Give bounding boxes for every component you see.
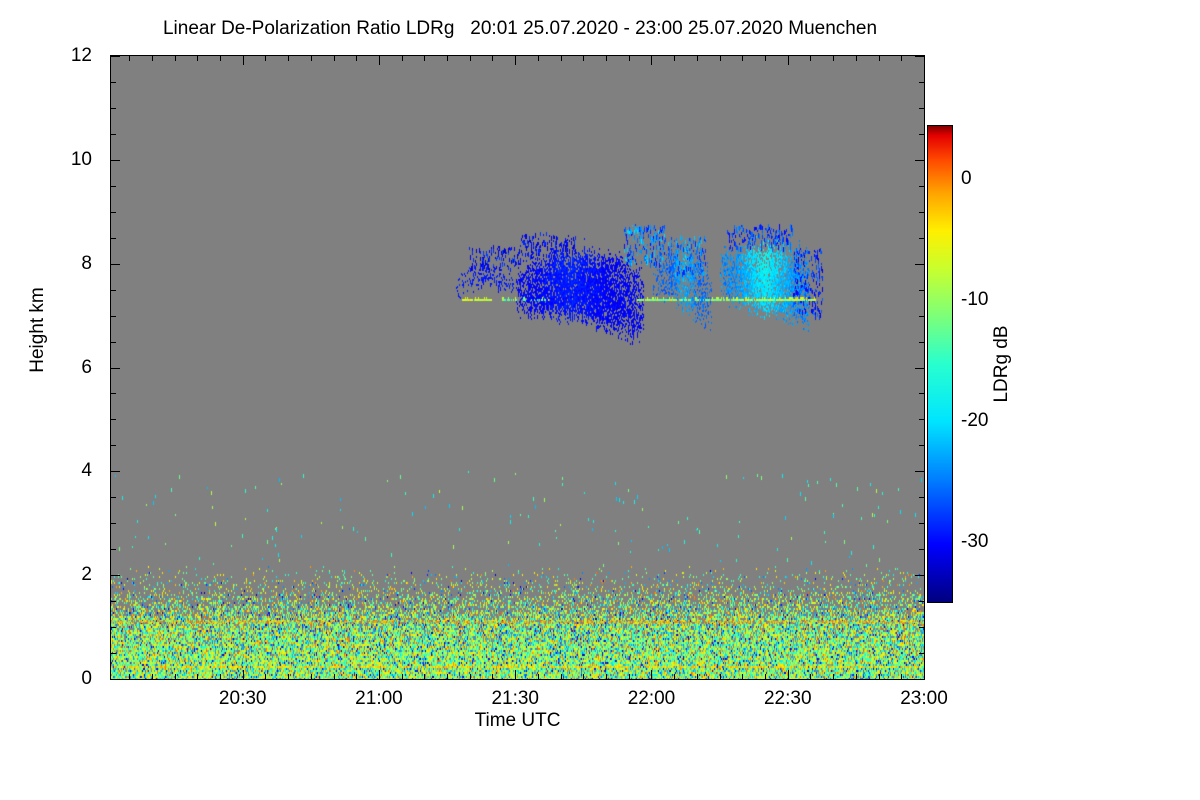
y-minor-tick-right bbox=[919, 549, 924, 550]
y-minor-tick bbox=[111, 134, 116, 135]
x-minor-tick bbox=[152, 674, 153, 679]
y-minor-tick bbox=[111, 393, 116, 394]
x-tick-label: 22:00 bbox=[628, 688, 676, 710]
y-major-tick-right bbox=[915, 471, 924, 472]
y-minor-tick-right bbox=[919, 134, 924, 135]
y-major-tick bbox=[111, 679, 120, 680]
y-minor-tick bbox=[111, 108, 116, 109]
x-minor-tick-top bbox=[288, 56, 289, 61]
y-minor-tick bbox=[111, 238, 116, 239]
y-major-tick bbox=[111, 160, 120, 161]
x-minor-tick bbox=[129, 674, 130, 679]
x-minor-tick-top bbox=[833, 56, 834, 61]
x-minor-tick-top bbox=[402, 56, 403, 61]
radar-field-heatmap bbox=[111, 56, 924, 679]
y-minor-tick bbox=[111, 316, 116, 317]
x-minor-tick-top bbox=[447, 56, 448, 61]
x-major-tick-top bbox=[788, 56, 789, 65]
y-minor-tick-right bbox=[919, 627, 924, 628]
y-minor-tick bbox=[111, 497, 116, 498]
x-minor-tick bbox=[311, 674, 312, 679]
x-major-tick bbox=[788, 670, 789, 679]
figure-root: Linear De-Polarization Ratio LDRg 20:01 … bbox=[0, 0, 1200, 800]
x-minor-tick bbox=[265, 674, 266, 679]
x-tick-label: 21:30 bbox=[491, 688, 539, 710]
x-tick-label: 20:30 bbox=[219, 688, 267, 710]
x-minor-tick-top bbox=[742, 56, 743, 61]
x-minor-tick-top bbox=[220, 56, 221, 61]
colorbar[interactable]: 0-10-20-30 bbox=[927, 125, 953, 603]
x-minor-tick-top bbox=[606, 56, 607, 61]
x-minor-tick-top bbox=[720, 56, 721, 61]
y-tick-label: 2 bbox=[0, 564, 92, 586]
x-major-tick-top bbox=[515, 56, 516, 65]
x-minor-tick bbox=[810, 674, 811, 679]
x-tick-label: 22:30 bbox=[764, 688, 812, 710]
y-major-tick-right bbox=[915, 368, 924, 369]
x-minor-tick-top bbox=[492, 56, 493, 61]
x-minor-tick-top bbox=[856, 56, 857, 61]
x-minor-tick bbox=[470, 674, 471, 679]
x-minor-tick-top bbox=[765, 56, 766, 61]
y-minor-tick-right bbox=[919, 108, 924, 109]
x-minor-tick-top bbox=[265, 56, 266, 61]
y-major-tick bbox=[111, 264, 120, 265]
x-major-tick bbox=[651, 670, 652, 679]
x-minor-tick bbox=[606, 674, 607, 679]
y-tick-label: 0 bbox=[0, 668, 92, 690]
y-minor-tick-right bbox=[919, 419, 924, 420]
y-major-tick-right bbox=[915, 160, 924, 161]
x-major-tick-top bbox=[243, 56, 244, 65]
x-minor-tick bbox=[720, 674, 721, 679]
y-minor-tick bbox=[111, 653, 116, 654]
y-minor-tick-right bbox=[919, 238, 924, 239]
y-minor-tick bbox=[111, 419, 116, 420]
x-minor-tick bbox=[288, 674, 289, 679]
x-tick-label: 23:00 bbox=[900, 688, 948, 710]
x-minor-tick bbox=[356, 674, 357, 679]
x-minor-tick bbox=[561, 674, 562, 679]
x-minor-tick bbox=[492, 674, 493, 679]
x-minor-tick-top bbox=[334, 56, 335, 61]
y-minor-tick-right bbox=[919, 393, 924, 394]
y-minor-tick bbox=[111, 523, 116, 524]
x-minor-tick bbox=[197, 674, 198, 679]
x-minor-tick-top bbox=[879, 56, 880, 61]
colorbar-title: LDRg dB bbox=[991, 325, 1013, 402]
x-minor-tick-top bbox=[175, 56, 176, 61]
x-minor-tick bbox=[674, 674, 675, 679]
y-minor-tick-right bbox=[919, 653, 924, 654]
x-minor-tick-top bbox=[538, 56, 539, 61]
x-minor-tick bbox=[856, 674, 857, 679]
x-minor-tick-top bbox=[311, 56, 312, 61]
y-major-tick bbox=[111, 471, 120, 472]
y-major-tick-right bbox=[915, 56, 924, 57]
x-major-tick bbox=[243, 670, 244, 679]
y-minor-tick-right bbox=[919, 342, 924, 343]
x-minor-tick bbox=[220, 674, 221, 679]
y-minor-tick-right bbox=[919, 290, 924, 291]
plot-area[interactable] bbox=[110, 55, 925, 680]
x-minor-tick-top bbox=[901, 56, 902, 61]
y-major-tick bbox=[111, 575, 120, 576]
x-major-tick bbox=[515, 670, 516, 679]
x-minor-tick-top bbox=[583, 56, 584, 61]
y-major-tick-right bbox=[915, 575, 924, 576]
x-minor-tick-top bbox=[424, 56, 425, 61]
y-minor-tick bbox=[111, 186, 116, 187]
x-minor-tick bbox=[583, 674, 584, 679]
x-minor-tick bbox=[538, 674, 539, 679]
y-minor-tick bbox=[111, 445, 116, 446]
y-minor-tick bbox=[111, 601, 116, 602]
x-minor-tick bbox=[833, 674, 834, 679]
x-major-tick-top bbox=[651, 56, 652, 65]
y-minor-tick-right bbox=[919, 523, 924, 524]
y-axis-title: Height km bbox=[27, 287, 49, 373]
x-minor-tick bbox=[402, 674, 403, 679]
y-minor-tick-right bbox=[919, 316, 924, 317]
x-minor-tick bbox=[901, 674, 902, 679]
y-minor-tick-right bbox=[919, 82, 924, 83]
x-minor-tick bbox=[334, 674, 335, 679]
y-major-tick bbox=[111, 368, 120, 369]
x-major-tick-top bbox=[379, 56, 380, 65]
x-minor-tick-top bbox=[674, 56, 675, 61]
y-tick-label: 4 bbox=[0, 460, 92, 482]
x-minor-tick-top bbox=[129, 56, 130, 61]
y-minor-tick-right bbox=[919, 497, 924, 498]
x-minor-tick bbox=[424, 674, 425, 679]
colorbar-tick-label: -20 bbox=[961, 410, 988, 432]
x-minor-tick-top bbox=[629, 56, 630, 61]
colorbar-tick-label: -30 bbox=[961, 531, 988, 553]
x-minor-tick-top bbox=[561, 56, 562, 61]
y-minor-tick-right bbox=[919, 186, 924, 187]
y-minor-tick bbox=[111, 290, 116, 291]
y-minor-tick-right bbox=[919, 445, 924, 446]
y-minor-tick bbox=[111, 212, 116, 213]
chart-title: Linear De-Polarization Ratio LDRg 20:01 … bbox=[0, 18, 1040, 40]
y-tick-label: 10 bbox=[0, 149, 92, 171]
x-minor-tick bbox=[175, 674, 176, 679]
y-minor-tick bbox=[111, 549, 116, 550]
x-tick-label: 21:00 bbox=[355, 688, 403, 710]
x-minor-tick-top bbox=[152, 56, 153, 61]
x-axis-title: Time UTC bbox=[110, 710, 925, 732]
x-minor-tick-top bbox=[470, 56, 471, 61]
y-tick-label: 12 bbox=[0, 45, 92, 67]
x-minor-tick-top bbox=[356, 56, 357, 61]
x-minor-tick-top bbox=[197, 56, 198, 61]
y-minor-tick bbox=[111, 342, 116, 343]
x-minor-tick bbox=[629, 674, 630, 679]
x-minor-tick bbox=[742, 674, 743, 679]
colorbar-tick-label: 0 bbox=[961, 168, 972, 190]
y-minor-tick bbox=[111, 627, 116, 628]
y-tick-label: 8 bbox=[0, 253, 92, 275]
y-minor-tick-right bbox=[919, 601, 924, 602]
x-major-tick-top bbox=[924, 56, 925, 65]
y-minor-tick-right bbox=[919, 212, 924, 213]
colorbar-tick-label: -10 bbox=[961, 289, 988, 311]
x-major-tick bbox=[924, 670, 925, 679]
x-minor-tick bbox=[765, 674, 766, 679]
colorbar-gradient bbox=[927, 125, 953, 603]
x-minor-tick bbox=[697, 674, 698, 679]
y-major-tick-right bbox=[915, 264, 924, 265]
y-minor-tick bbox=[111, 82, 116, 83]
x-minor-tick-top bbox=[697, 56, 698, 61]
x-minor-tick-top bbox=[810, 56, 811, 61]
y-major-tick-right bbox=[915, 679, 924, 680]
x-minor-tick bbox=[879, 674, 880, 679]
x-minor-tick bbox=[447, 674, 448, 679]
x-major-tick bbox=[379, 670, 380, 679]
y-major-tick bbox=[111, 56, 120, 57]
